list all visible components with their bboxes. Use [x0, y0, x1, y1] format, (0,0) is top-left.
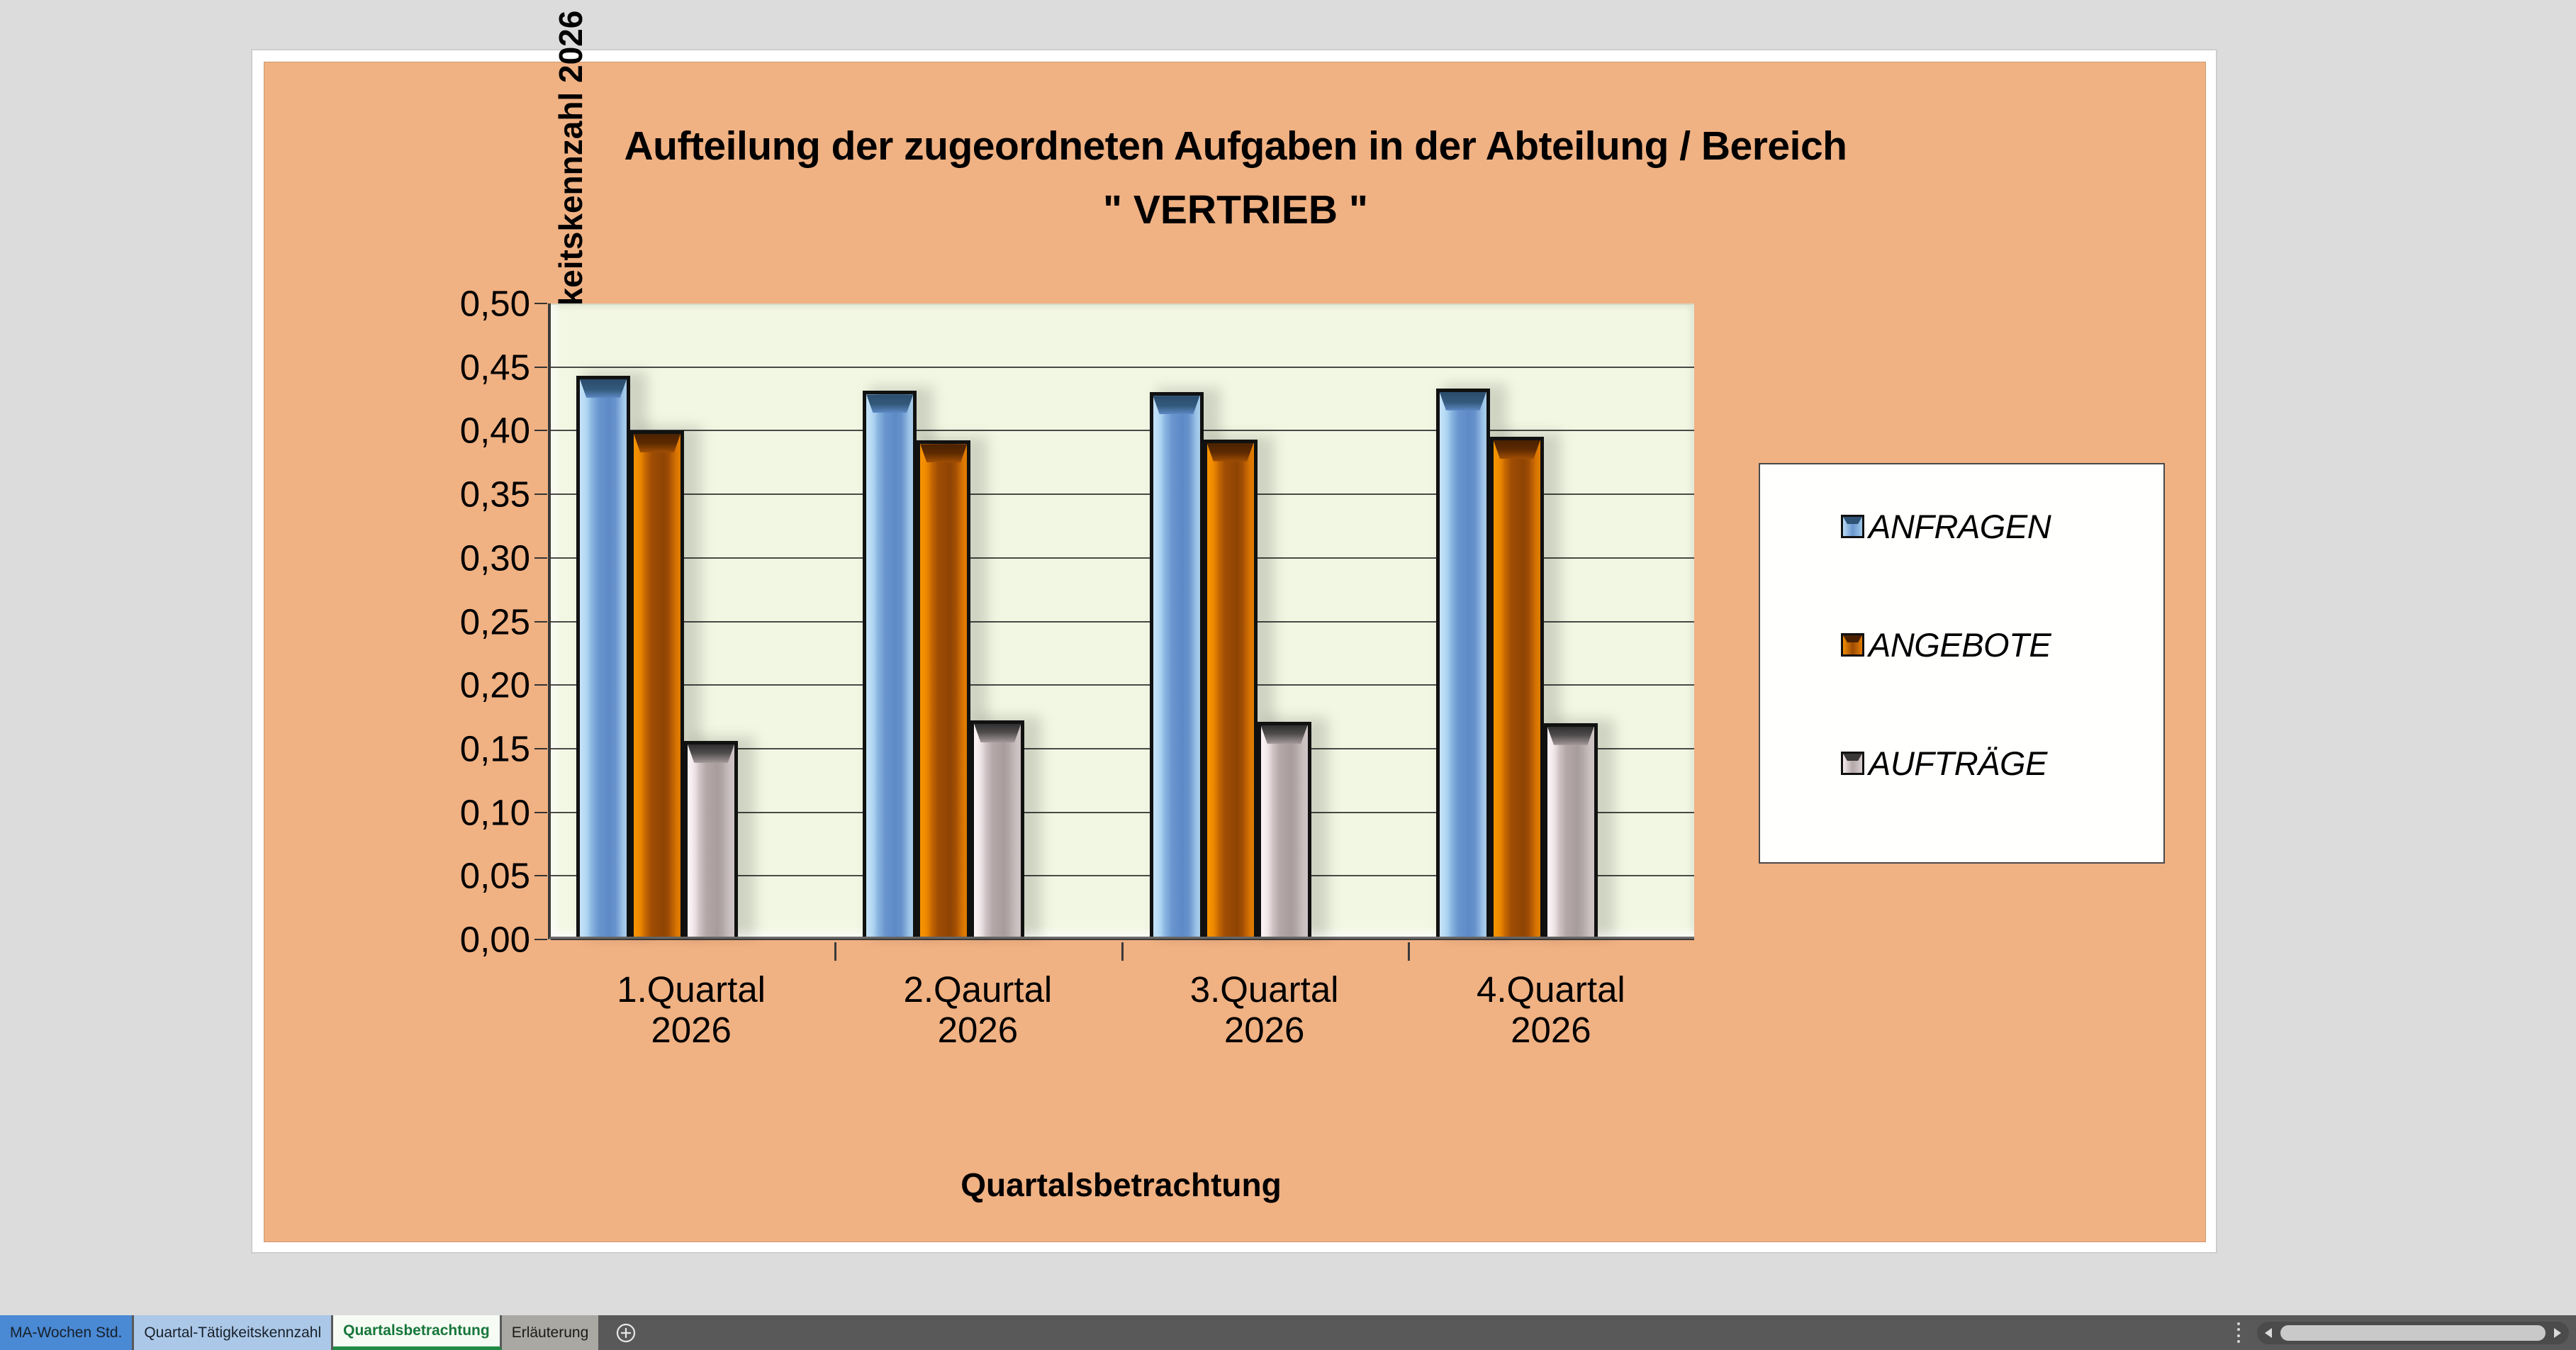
- bar-bevel-top: [866, 394, 913, 413]
- bar-anfragen-2[interactable]: [863, 391, 917, 937]
- y-axis-tick-label: 0,15: [296, 727, 530, 769]
- bar-aufträge-2[interactable]: [970, 720, 1024, 937]
- bar-face: [1207, 443, 1254, 937]
- y-axis-tick-mark: [534, 367, 547, 368]
- bar-bevel-left: [1494, 440, 1505, 937]
- bar-anfragen-1[interactable]: [576, 376, 630, 937]
- horizontal-scroll-region: [2197, 1315, 2576, 1350]
- workbook-canvas: Aufteilung der zugeordneten Aufgaben in …: [0, 0, 2576, 1315]
- bar-bevel-top: [1494, 440, 1540, 459]
- bar-anfragen-4[interactable]: [1436, 389, 1490, 937]
- y-axis-tick-label: 0,45: [296, 346, 530, 388]
- x-label-line-2: 2026: [1408, 1010, 1694, 1050]
- y-axis-tick-mark: [534, 875, 547, 876]
- bar-bevel-left: [1261, 725, 1272, 937]
- bar-bevel-left: [580, 379, 591, 937]
- bar-bevel-left: [866, 394, 878, 937]
- bar-bevel-top: [634, 434, 681, 452]
- x-label-line-2: 2026: [1121, 1010, 1408, 1050]
- bar-face: [920, 444, 967, 937]
- sheet-tab-quartalsbetrachtung[interactable]: Quartalsbetrachtung: [333, 1315, 502, 1350]
- bar-aufträge-4[interactable]: [1544, 723, 1598, 937]
- y-axis-tick-label: 0,10: [296, 791, 530, 833]
- bar-bevel-top: [1207, 443, 1254, 462]
- y-axis-tick-mark: [534, 557, 547, 559]
- bar-bevel-top: [1153, 396, 1200, 414]
- bar-face: [1153, 396, 1200, 937]
- bar-bevel-top: [920, 444, 967, 462]
- legend-swatch-icon: [1841, 633, 1864, 657]
- bar-bevel-right: [1243, 443, 1254, 937]
- bar-bevel-right: [1529, 440, 1540, 937]
- bar-face: [1261, 725, 1308, 937]
- chart-object-frame[interactable]: Aufteilung der zugeordneten Aufgaben in …: [252, 50, 2217, 1253]
- bar-face: [634, 434, 681, 937]
- bar-bevel-top: [688, 744, 734, 763]
- bar-bevel-top: [1261, 725, 1308, 744]
- bar-bevel-top: [580, 379, 627, 398]
- y-axis-tick-label: 0,00: [296, 919, 530, 961]
- y-axis-tick-label: 0,35: [296, 474, 530, 515]
- bar-angebote-4[interactable]: [1490, 437, 1544, 937]
- x-axis-tick-mark: [1408, 942, 1410, 961]
- x-label-line-1: 3.Quartal: [1121, 969, 1408, 1010]
- bar-bevel-right: [1297, 725, 1308, 937]
- bar-bevel-top: [1547, 727, 1594, 745]
- bar-anfragen-3[interactable]: [1150, 392, 1204, 937]
- bar-bevel-right: [902, 394, 913, 937]
- bar-face: [688, 744, 734, 937]
- y-axis-tick-label: 0,20: [296, 664, 530, 706]
- x-axis-category-label: 1.Quartal2026: [548, 969, 834, 1050]
- bar-bevel-top: [1440, 392, 1486, 411]
- bar-bevel-left: [920, 444, 931, 937]
- legend-entry-aufträge[interactable]: AUFTRÄGE: [1841, 744, 2047, 783]
- add-sheet-button[interactable]: [600, 1315, 651, 1350]
- gridline: [551, 367, 1694, 368]
- legend-label: ANFRAGEN: [1869, 507, 2051, 546]
- bar-face: [1494, 440, 1540, 937]
- bar-bevel-right: [1583, 727, 1594, 937]
- sheet-tab-bar: MA-Wochen Std.Quartal-Tätigkeitskennzahl…: [0, 1315, 2576, 1350]
- x-axis-category-label: 4.Quartal2026: [1408, 969, 1694, 1050]
- bar-bevel-right: [669, 434, 681, 937]
- triangle-right-icon[interactable]: [2548, 1324, 2566, 1342]
- y-axis-tick-mark: [534, 684, 547, 686]
- legend-label: ANGEBOTE: [1869, 625, 2051, 664]
- x-axis-title: Quartalsbetrachtung: [548, 1166, 1694, 1204]
- x-label-line-2: 2026: [548, 1010, 834, 1050]
- vertical-dots-icon[interactable]: [2236, 1322, 2241, 1344]
- chart-background: Aufteilung der zugeordneten Aufgaben in …: [264, 62, 2206, 1242]
- legend-label: AUFTRÄGE: [1869, 744, 2047, 783]
- bar-face: [974, 724, 1021, 937]
- triangle-left-icon[interactable]: [2260, 1324, 2278, 1342]
- x-label-line-1: 4.Quartal: [1408, 969, 1694, 1010]
- bar-bevel-right: [956, 444, 967, 937]
- bar-bevel-left: [634, 434, 645, 937]
- bar-bevel-right: [1189, 396, 1200, 937]
- gridline: [551, 430, 1694, 431]
- y-axis-tick-label: 0,05: [296, 855, 530, 897]
- y-axis-tick-label: 0,30: [296, 537, 530, 579]
- bar-bevel-right: [723, 744, 734, 937]
- x-axis-category-label: 3.Quartal2026: [1121, 969, 1408, 1050]
- y-axis-tick-label: 0,25: [296, 601, 530, 642]
- bar-angebote-2[interactable]: [917, 440, 970, 937]
- chart-legend[interactable]: ANFRAGENANGEBOTEAUFTRÄGE: [1759, 463, 2165, 864]
- sheet-tab-ma-wochen-std[interactable]: MA-Wochen Std.: [0, 1315, 134, 1350]
- bar-bevel-left: [1547, 727, 1559, 937]
- horizontal-scrollbar-thumb[interactable]: [2280, 1325, 2546, 1341]
- x-axis-category-label: 2.Qaurtal2026: [834, 969, 1121, 1050]
- bar-face: [866, 394, 913, 937]
- bar-face: [1547, 727, 1594, 937]
- bar-bevel-left: [688, 744, 699, 937]
- plot-inner: [551, 303, 1694, 937]
- bar-face: [580, 379, 627, 937]
- y-axis-tick-mark: [534, 303, 547, 304]
- bar-angebote-1[interactable]: [630, 430, 684, 937]
- bar-aufträge-1[interactable]: [684, 741, 738, 937]
- y-axis-tick-mark: [534, 939, 547, 940]
- legend-swatch-icon: [1841, 515, 1864, 538]
- legend-entry-angebote[interactable]: ANGEBOTE: [1841, 625, 2051, 664]
- y-axis-tick-label: 0,50: [296, 283, 530, 325]
- plot-top-edge: [551, 303, 1694, 305]
- y-axis-tick-mark: [534, 812, 547, 813]
- bar-aufträge-3[interactable]: [1258, 722, 1311, 937]
- legend-entry-anfragen[interactable]: ANFRAGEN: [1841, 507, 2051, 546]
- bar-bevel-right: [615, 379, 627, 937]
- gridline: [551, 939, 1694, 940]
- bar-bevel-top: [974, 724, 1021, 742]
- bar-bevel-right: [1009, 724, 1021, 937]
- bar-bevel-left: [1440, 392, 1451, 937]
- plot-area: [548, 303, 1694, 939]
- y-axis-tick-label: 0,40: [296, 410, 530, 452]
- bar-bevel-left: [974, 724, 985, 937]
- horizontal-scrollbar[interactable]: [2257, 1322, 2569, 1344]
- legend-swatch-icon: [1841, 752, 1864, 775]
- x-label-line-1: 2.Qaurtal: [834, 969, 1121, 1010]
- bar-angebote-3[interactable]: [1204, 440, 1258, 937]
- x-axis-tick-mark: [1121, 942, 1124, 961]
- y-axis-tick-mark: [534, 430, 547, 431]
- y-axis-tick-mark: [534, 748, 547, 749]
- bar-face: [1440, 392, 1486, 937]
- sheet-tab-strip: MA-Wochen Std.Quartal-Tätigkeitskennzahl…: [0, 1315, 600, 1350]
- x-label-line-1: 1.Quartal: [548, 969, 834, 1010]
- sheet-tab-quartal-t-tigkeitskennzahl[interactable]: Quartal-Tätigkeitskennzahl: [134, 1315, 333, 1350]
- bar-bevel-left: [1207, 443, 1219, 937]
- x-label-line-2: 2026: [834, 1010, 1121, 1050]
- bar-bevel-left: [1153, 396, 1165, 937]
- y-axis-tick-mark: [534, 621, 547, 623]
- sheet-tab-erl-uterung[interactable]: Erläuterung: [502, 1315, 601, 1350]
- x-axis-tick-mark: [834, 942, 836, 961]
- bar-bevel-right: [1475, 392, 1486, 937]
- y-axis-tick-mark: [534, 493, 547, 495]
